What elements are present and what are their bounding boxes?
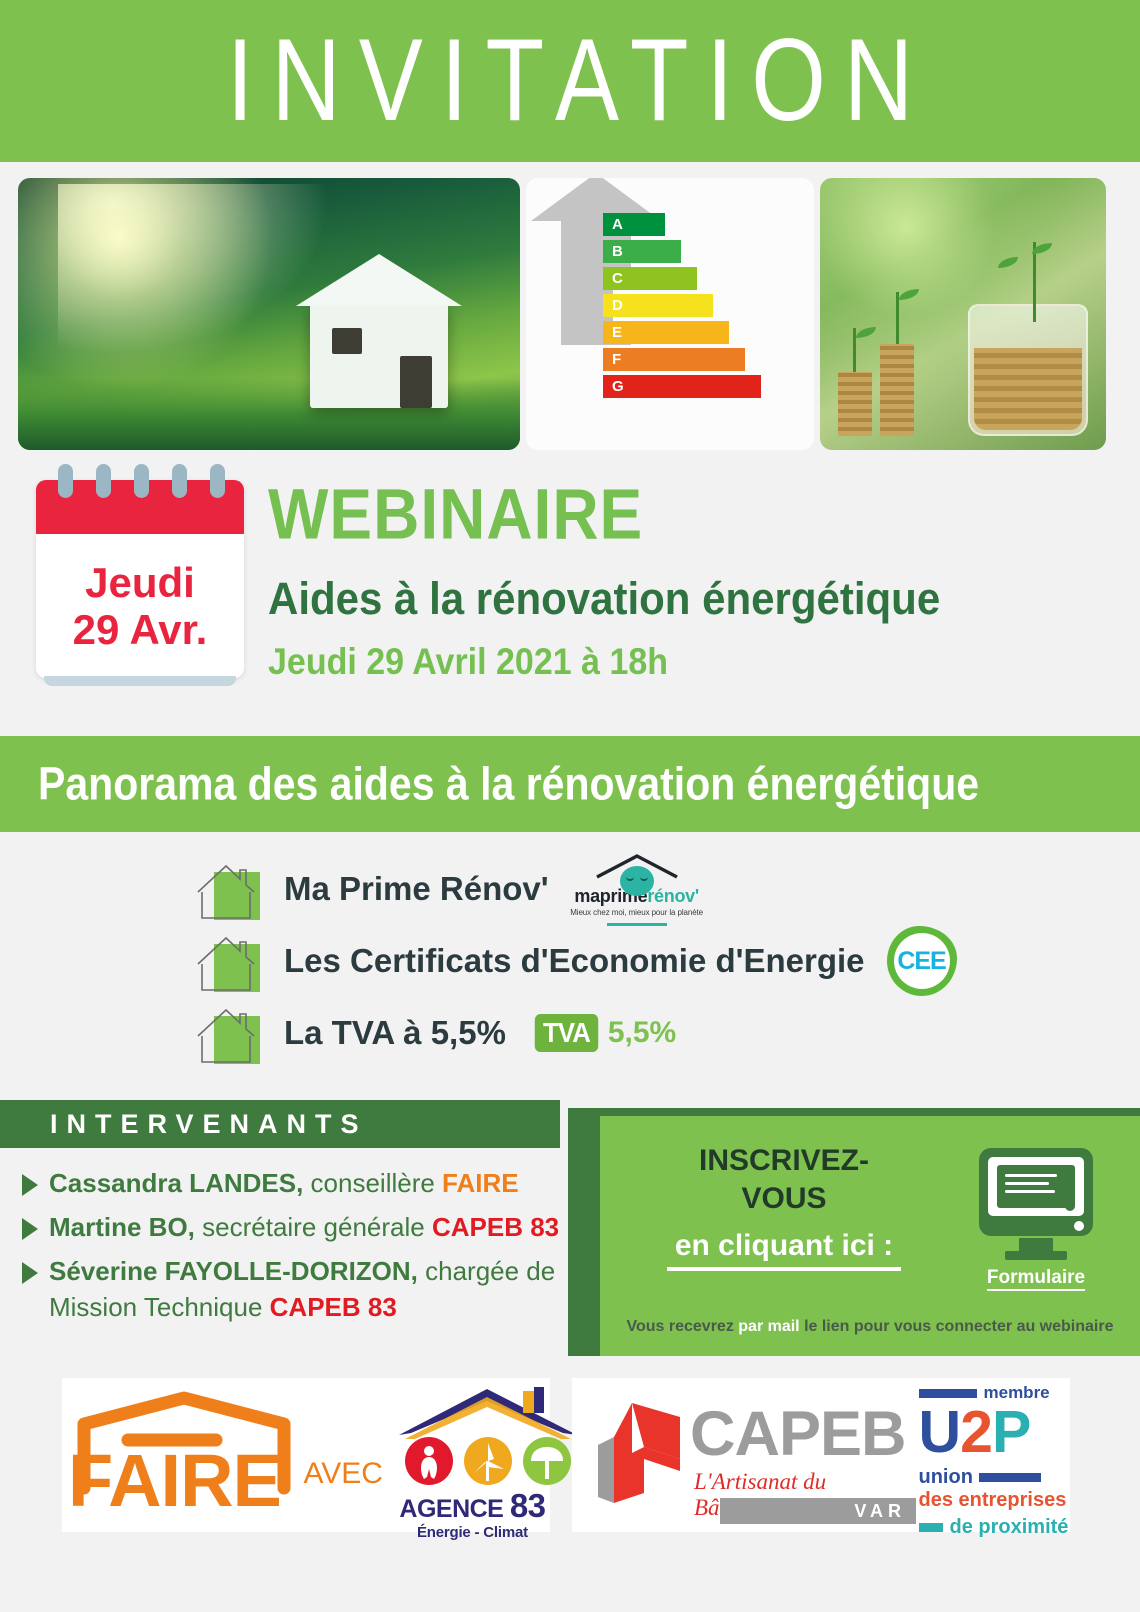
tva-tag: TVA <box>535 1014 598 1052</box>
list-item: Séverine FAYOLLE-DORIZON, chargée de Mis… <box>22 1254 567 1326</box>
speaker-org: CAPEB 83 <box>270 1292 397 1322</box>
agence-number: 83 <box>510 1487 546 1524</box>
bullet-triangle-icon <box>22 1262 38 1284</box>
house-bullet-icon <box>196 1002 260 1064</box>
aid-item-maprimerenov: Ma Prime Rénov' maprimerénov' Mieux chez… <box>196 858 707 920</box>
aid-label: Ma Prime Rénov' <box>284 870 549 908</box>
aid-label: Les Certificats d'Economie d'Energie <box>284 942 865 980</box>
intervenants-header: INTERVENANTS <box>0 1100 560 1148</box>
energy-grade-g: G <box>603 375 761 398</box>
registration-link-text[interactable]: en cliquant ici : <box>667 1229 901 1271</box>
faire-agence-logo-card: FAIRE AVEC AGENCE 83 Énergie - Cl <box>62 1378 550 1532</box>
maprimerenov-rule <box>607 923 667 926</box>
cee-badge: CEE <box>887 926 957 996</box>
calendar-icon: Jeudi 29 Avr. <box>36 480 244 678</box>
u2p-dash-1 <box>919 1389 977 1398</box>
photo-row: A B C D E F G <box>0 178 1140 456</box>
energy-grade-c: C <box>603 267 697 290</box>
registration-box[interactable]: INSCRIVEZ- VOUS en cliquant ici : Formul… <box>568 1108 1140 1356</box>
event-datetime: Jeudi 29 Avril 2021 à 18h <box>268 644 1108 681</box>
cee-badge-text: CEE <box>897 947 945 976</box>
header-banner: INVITATION <box>0 0 1140 162</box>
faire-wordmark: FAIRE <box>68 1444 281 1518</box>
registration-line1: INSCRIVEZ- <box>634 1142 934 1180</box>
aid-item-cee: Les Certificats d'Economie d'Energie CEE <box>196 930 957 992</box>
house-illustration <box>310 304 448 408</box>
energy-grade-f: F <box>603 348 745 371</box>
list-item: Cassandra LANDES, conseillère FAIRE <box>22 1166 567 1202</box>
calendar-day: Jeudi <box>85 559 195 606</box>
agence-icon-person <box>405 1437 453 1485</box>
agence-name: AGENCE <box>399 1495 503 1523</box>
agence-icon-tree <box>523 1437 571 1485</box>
capeb-wordmark: CAPEB <box>690 1403 906 1466</box>
panorama-title: Panorama des aides à la rénovation énerg… <box>0 758 979 811</box>
coin-stack-2 <box>880 344 914 436</box>
registration-form-link[interactable]: Formulaire <box>974 1148 1098 1291</box>
u2p-wordmark: U2P <box>919 1403 1071 1462</box>
u2p-dash-2 <box>979 1473 1041 1482</box>
aid-item-tva: La TVA à 5,5% TVA 5,5% <box>196 1002 676 1064</box>
coin-stack-1 <box>838 372 872 436</box>
speaker-org: CAPEB 83 <box>432 1212 559 1242</box>
maprimerenov-tagline: Mieux chez moi, mieux pour la planète <box>567 908 707 917</box>
coin-jar <box>968 304 1088 436</box>
energy-grade-bars: A B C D E F G <box>603 213 793 402</box>
capeb-u2p-logo-card: CAPEB L'Artisanat du Bâtiment VAR membre… <box>572 1378 1070 1532</box>
u2p-dash-3 <box>919 1523 943 1532</box>
leaf-4 <box>998 257 1018 268</box>
calendar-foot <box>44 676 236 686</box>
registration-line2: VOUS <box>634 1180 934 1218</box>
maprimerenov-logo: maprimerénov' Mieux chez moi, mieux pour… <box>567 853 707 926</box>
registration-footnote: Vous recevrez par mail le lien pour vous… <box>600 1318 1140 1336</box>
event-subtitle: Aides à la rénovation énergétique <box>268 576 1108 621</box>
intervenants-title: INTERVENANTS <box>0 1109 368 1140</box>
agence-subtitle: Énergie - Climat <box>395 1524 550 1541</box>
aids-list: Ma Prime Rénov' maprimerénov' Mieux chez… <box>0 848 1140 1088</box>
energy-grade-b: B <box>603 240 681 263</box>
u2p-union-label: union <box>919 1466 973 1489</box>
energy-rating-chart: A B C D E F G <box>526 178 814 450</box>
speaker-org: FAIRE <box>442 1168 519 1198</box>
bullet-triangle-icon <box>22 1174 38 1196</box>
house-window <box>332 328 362 354</box>
registration-heading: INSCRIVEZ- VOUS en cliquant ici : <box>634 1142 934 1271</box>
capeb-region-bar: VAR <box>720 1498 916 1524</box>
speaker-name: Cassandra LANDES, <box>49 1168 303 1198</box>
eco-house-photo <box>18 178 520 450</box>
agence-icon-wind <box>464 1437 512 1485</box>
intervenants-list: Cassandra LANDES, conseillère FAIRE Mart… <box>22 1166 567 1334</box>
energy-grade-e: E <box>603 321 729 344</box>
tva-rate: 5,5% <box>608 1016 676 1050</box>
agence-83-logo: AGENCE 83 Énergie - Climat <box>395 1385 550 1525</box>
u2p-proximite-label: de proximité <box>950 1516 1069 1539</box>
leaf-2 <box>899 289 919 300</box>
capeb-region: VAR <box>854 1501 906 1522</box>
energy-grade-a: A <box>603 213 665 236</box>
sprout-3 <box>1033 242 1036 322</box>
speaker-role: chargée de <box>418 1256 555 1286</box>
u2p-logo: membre U2P union des entreprises de prox… <box>919 1385 1071 1525</box>
panorama-banner: Panorama des aides à la rénovation énerg… <box>0 736 1140 832</box>
formulaire-label[interactable]: Formulaire <box>987 1267 1085 1291</box>
faire-logo: FAIRE <box>66 1390 299 1520</box>
event-row: Jeudi 29 Avr. WEBINAIRE Aides à la rénov… <box>0 468 1140 730</box>
aid-label: La TVA à 5,5% <box>284 1014 506 1052</box>
bullet-triangle-icon <box>22 1218 38 1240</box>
house-door <box>400 356 432 408</box>
event-details: WEBINAIRE Aides à la rénovation énergéti… <box>268 478 1108 678</box>
event-heading: WEBINAIRE <box>268 478 1108 550</box>
coins-and-sprouts-photo <box>820 178 1106 450</box>
speaker-name: Martine BO, <box>49 1212 195 1242</box>
speaker-role-continuation: Mission Technique <box>49 1292 270 1322</box>
speaker-name: Séverine FAYOLLE-DORIZON, <box>49 1256 418 1286</box>
speaker-role: conseillère <box>303 1168 442 1198</box>
page-title: INVITATION <box>209 22 931 139</box>
calendar-date: 29 Avr. <box>73 606 208 653</box>
u2p-entreprises-label: des entreprises <box>919 1489 1071 1512</box>
maprimerenov-face <box>620 866 654 896</box>
leaf-1 <box>856 327 876 338</box>
speaker-role: secrétaire générale <box>195 1212 432 1242</box>
capeb-logo: CAPEB L'Artisanat du Bâtiment VAR <box>590 1385 911 1525</box>
list-item: Martine BO, secrétaire générale CAPEB 83 <box>22 1210 567 1246</box>
house-bullet-icon <box>196 858 260 920</box>
monitor-form-icon <box>979 1148 1093 1236</box>
energy-grade-d: D <box>603 294 713 317</box>
footer-logos: FAIRE AVEC AGENCE 83 Énergie - Cl <box>0 1370 1140 1612</box>
tva-badge: TVA 5,5% <box>532 1014 676 1052</box>
house-bullet-icon <box>196 930 260 992</box>
